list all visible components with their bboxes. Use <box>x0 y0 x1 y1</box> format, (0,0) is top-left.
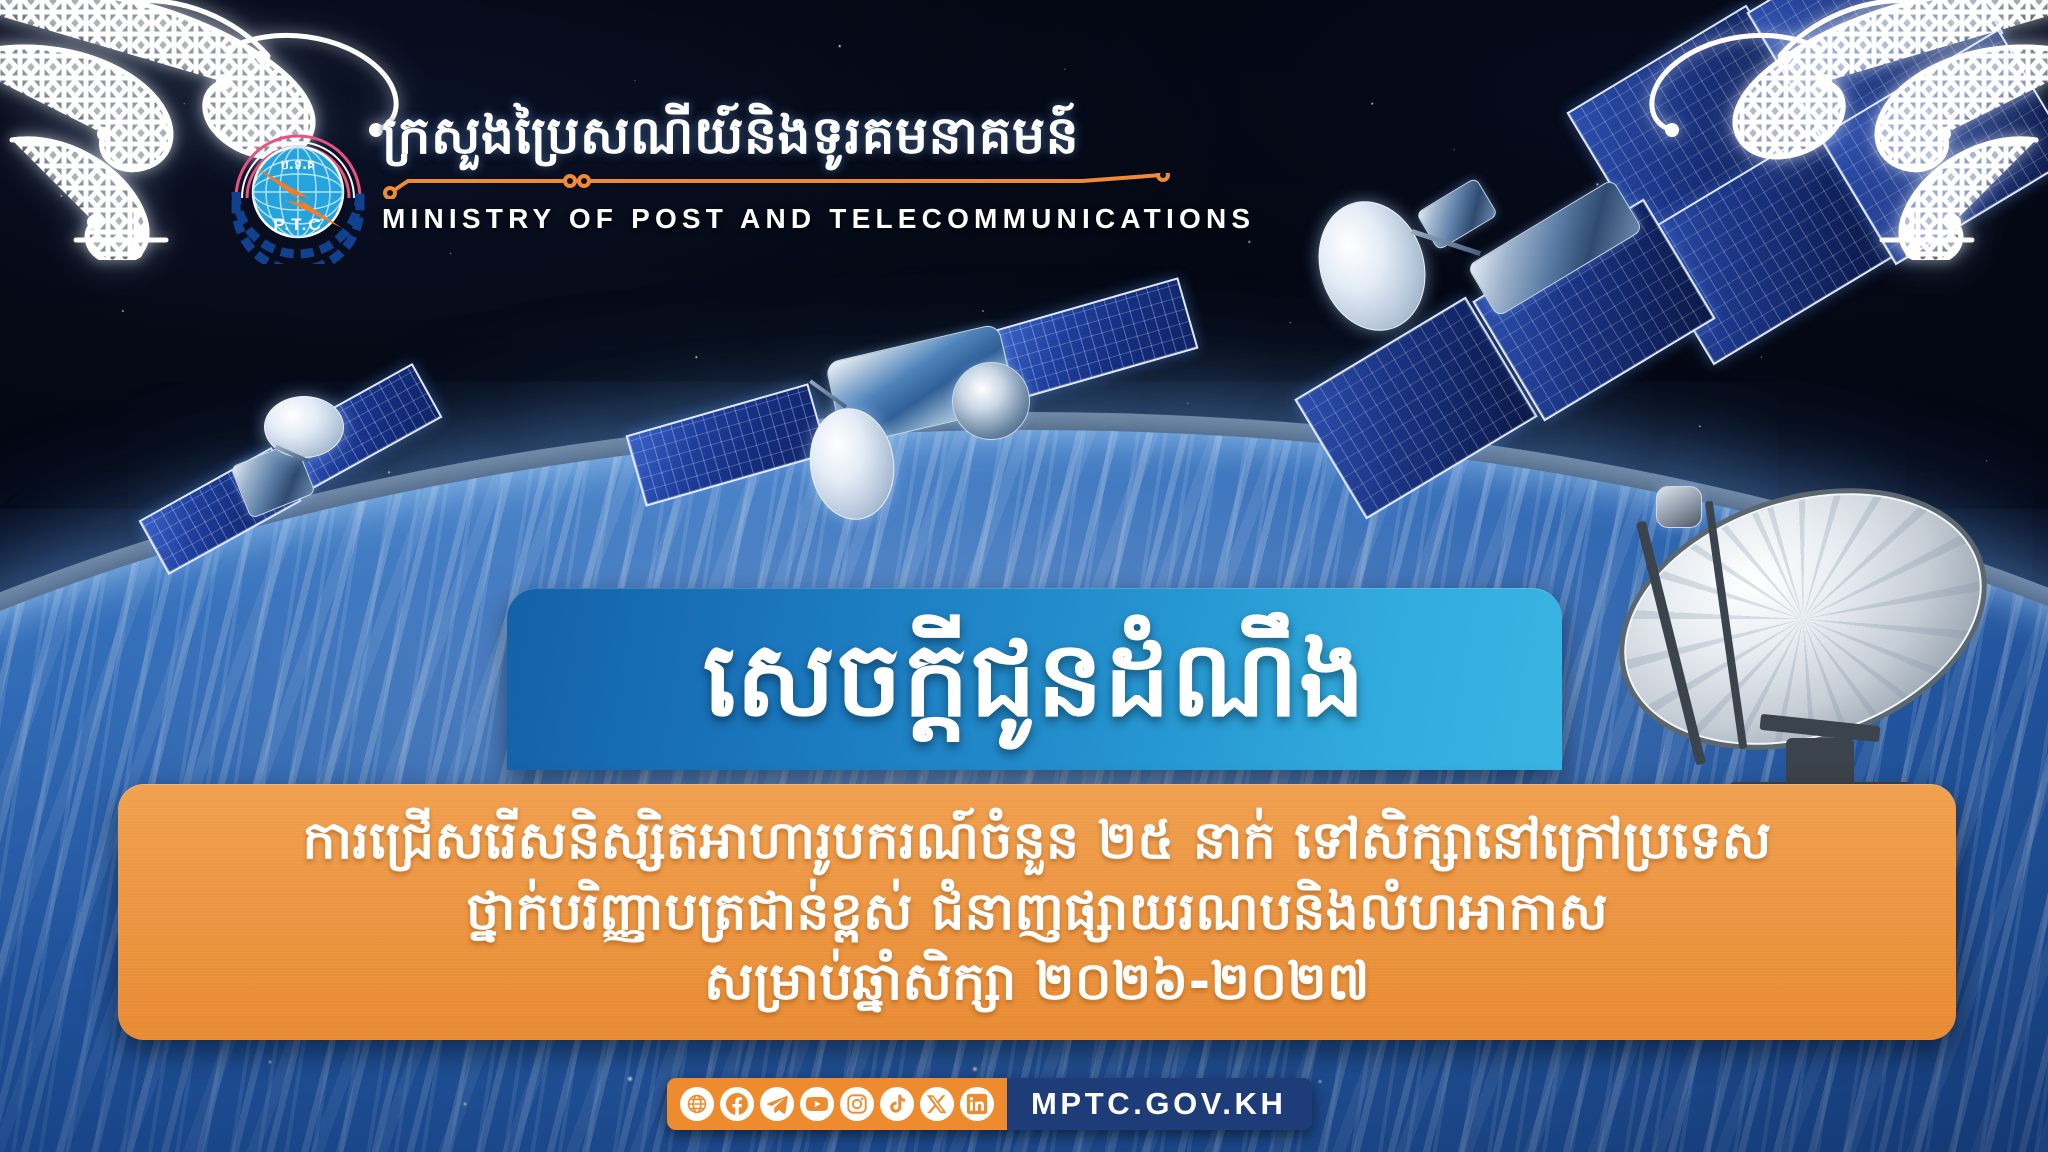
ministry-title-english: MINISTRY OF POST AND TELECOMMUNICATIONS <box>382 203 1172 235</box>
satellite-center <box>640 280 1180 580</box>
youtube-icon[interactable] <box>800 1087 834 1121</box>
svg-text:P.T.C: P.T.C <box>273 215 322 234</box>
facebook-icon[interactable] <box>720 1087 754 1121</box>
x-twitter-icon[interactable] <box>920 1087 954 1121</box>
announcement-line-2: ថ្នាក់បរិញ្ញាបត្រជាន់ខ្ពស់ ជំនាញផ្សាយរណប… <box>466 878 1608 947</box>
social-icon-group <box>667 1078 1007 1130</box>
tiktok-icon[interactable] <box>880 1087 914 1121</box>
header-text-block: ក្រសួងប្រៃសណីយ៍និងទូរគមនាគមន៍ MINISTRY O… <box>382 104 1172 235</box>
announcement-line-3: សម្រាប់ឆ្នាំសិក្សា ២០២៦-២០២៧ <box>704 948 1370 1017</box>
website-url-label[interactable]: MPTC.GOV.KH <box>1007 1078 1312 1130</box>
poster-root: ប.ទ.គ P.T.C ក្រសួងប្រៃសណីយ៍និងទូរគមនាគមន… <box>0 0 2048 1152</box>
svg-text:ប.ទ.គ: ប.ទ.គ <box>281 158 316 173</box>
footer-bar: MPTC.GOV.KH <box>667 1078 1312 1130</box>
announcement-headline-text: សេចក្តីជូនដំណឹង <box>703 627 1366 731</box>
globe-icon[interactable] <box>680 1087 714 1121</box>
satellite-left-small <box>150 360 470 590</box>
telegram-icon[interactable] <box>760 1087 794 1121</box>
ministry-title-khmer: ក្រសួងប្រៃសណីយ៍និងទូរគមនាគមន៍ <box>382 104 1172 169</box>
linkedin-icon[interactable] <box>960 1087 994 1121</box>
announcement-detail-banner: ការជ្រើសរើសនិស្សិតអាហារូបករណ៍ចំនួន ២៥ នា… <box>118 784 1956 1040</box>
announcement-headline-banner: សេចក្តីជូនដំណឹង <box>507 588 1562 770</box>
khmer-kbach-ornament-right <box>1602 0 2048 260</box>
orange-circuit-line <box>382 173 1172 199</box>
announcement-line-1: ការជ្រើសរើសនិស្សិតអាហារូបករណ៍ចំនួន ២៥ នា… <box>302 807 1771 876</box>
instagram-icon[interactable] <box>840 1087 874 1121</box>
ptc-ministry-logo: ប.ទ.គ P.T.C <box>222 112 374 264</box>
